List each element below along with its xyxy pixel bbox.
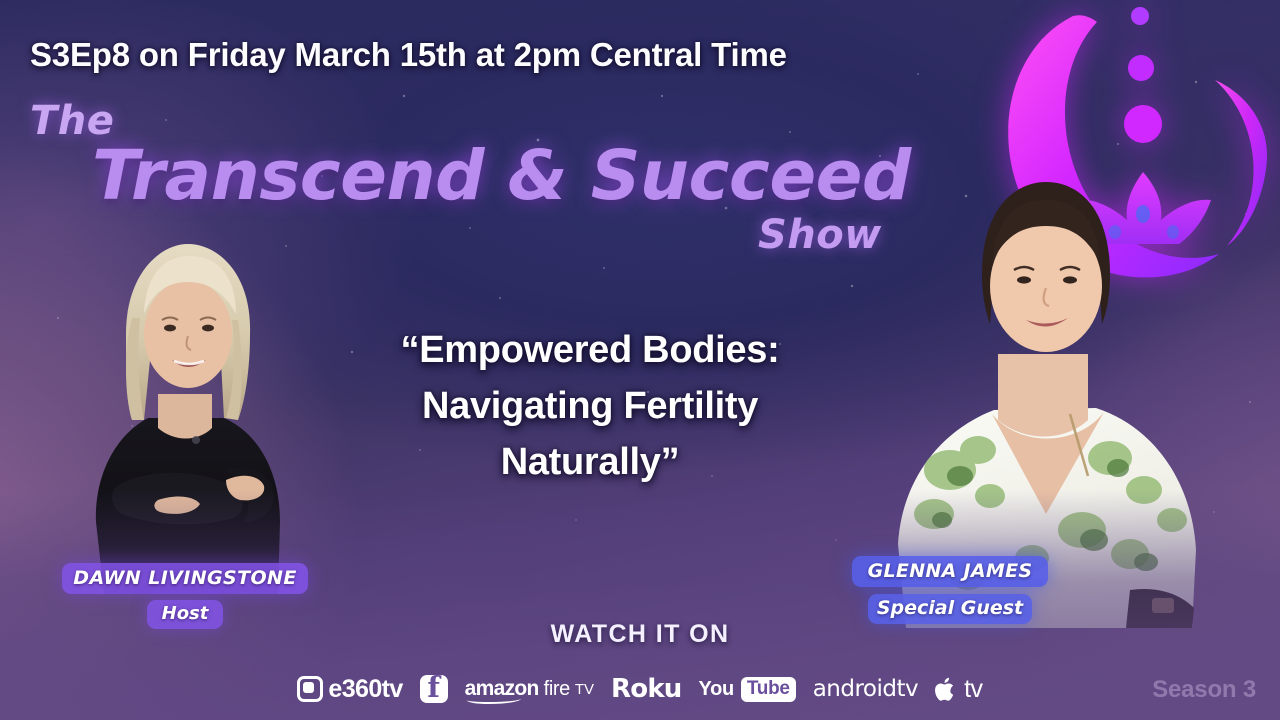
platform-logo-strip: e360tv amazon fireTV Roku You Tube andro… <box>0 666 1280 712</box>
roku-label: Roku <box>611 674 681 704</box>
guest-name-plate: GLENNA JAMES <box>852 556 1048 587</box>
season-label: Season 3 <box>1152 676 1256 704</box>
platform-amazon-firetv[interactable]: amazon fireTV <box>465 677 594 701</box>
watch-it-on-label: WATCH IT ON <box>0 620 1280 649</box>
promo-graphic: S3Ep8 on Friday March 15th at 2pm Centra… <box>0 0 1280 720</box>
episode-title: “Empowered Bodies: Navigating Fertility … <box>300 322 880 491</box>
androidtv-label: androidtv <box>813 676 918 702</box>
logo-show: Show <box>758 212 882 258</box>
host-name-plate: DAWN LIVINGSTONE <box>62 563 308 594</box>
youtube-you-label: You <box>699 678 734 701</box>
e360tv-label: e360tv <box>328 675 402 704</box>
episode-title-line-1: “Empowered Bodies: <box>300 322 880 378</box>
appletv-label: tv <box>964 675 982 704</box>
platform-youtube[interactable]: You Tube <box>699 677 796 702</box>
e360tv-icon <box>297 676 323 702</box>
fire-label: fire <box>544 678 570 701</box>
amazon-label: amazon <box>465 677 539 701</box>
platform-facebook[interactable] <box>420 675 448 703</box>
youtube-tube-label: Tube <box>741 677 796 702</box>
episode-title-line-3: Naturally” <box>300 434 880 490</box>
platform-e360tv[interactable]: e360tv <box>297 675 402 704</box>
apple-icon <box>935 676 958 703</box>
logo-title: Transcend & Succeed <box>92 136 911 216</box>
platform-androidtv[interactable]: androidtv <box>813 676 918 702</box>
episode-title-line-2: Navigating Fertility <box>300 378 880 434</box>
firetv-tv-label: TV <box>575 681 594 698</box>
platform-roku[interactable]: Roku <box>611 674 681 704</box>
schedule-line: S3Ep8 on Friday March 15th at 2pm Centra… <box>30 36 787 74</box>
platform-appletv[interactable]: tv <box>935 675 982 704</box>
facebook-icon <box>420 675 448 703</box>
